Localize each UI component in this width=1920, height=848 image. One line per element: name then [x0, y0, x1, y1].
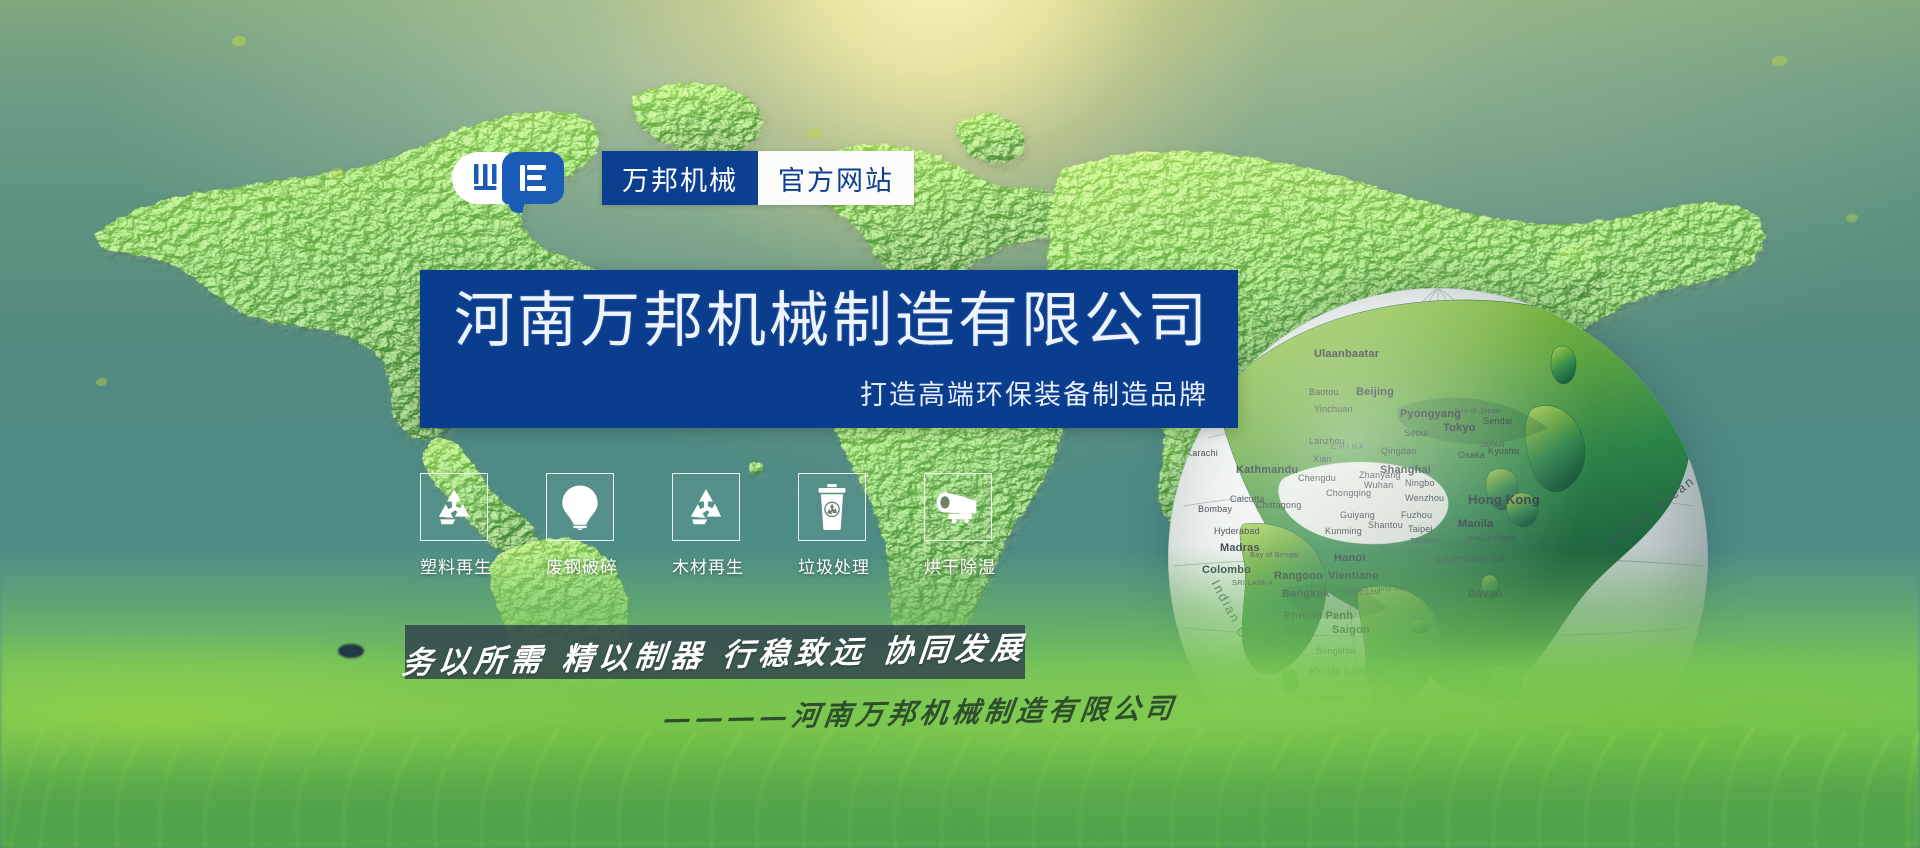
brand-bar: 万邦机械 官方网站 — [452, 150, 914, 206]
header-tabs: 万邦机械 官方网站 — [602, 151, 914, 205]
service-drying-dehumidification[interactable]: 烘干除湿 — [924, 473, 992, 578]
slogan-text: 务以所需 精以制器 行稳致远 协同发展 — [400, 622, 1029, 682]
globe-city-label: Shanghai — [1380, 464, 1431, 476]
globe-city-label: Pyongyang — [1400, 408, 1461, 420]
service-wood-recycling[interactable]: 木材再生 — [672, 473, 740, 578]
globe-city-label: Sendai — [1483, 416, 1512, 426]
globe-city-label: Hong Kong — [1468, 492, 1540, 507]
service-label: 塑料再生 — [420, 553, 488, 578]
globe-city-label: Kunming — [1325, 526, 1362, 536]
hero-banner: Hong Kong Ulaanbaatar Beijing Baotou Yin… — [0, 0, 1920, 848]
lightbulb-icon — [559, 484, 601, 530]
service-icon-box — [420, 473, 488, 541]
globe-city-label: Chengdu — [1298, 473, 1336, 483]
service-label: 废钢破碎 — [546, 553, 614, 578]
recycle-icon — [432, 485, 476, 529]
tab-brand[interactable]: 万邦机械 — [602, 151, 758, 205]
globe-city-label: Ulaanbaatar — [1314, 348, 1379, 360]
service-icon-box — [798, 473, 866, 541]
recycle-icon — [684, 485, 728, 529]
globe-city-label: Taipei — [1408, 524, 1433, 534]
globe-city-label: Fuzhou — [1401, 510, 1432, 520]
globe-city-label: Chittagong — [1256, 500, 1302, 510]
globe-city-label: Ningbo — [1405, 478, 1435, 488]
service-icon-row: 塑料再生 废钢破碎 — [420, 473, 992, 578]
globe-city-label: Yinchuan — [1314, 404, 1353, 414]
company-tagline: 打造高端环保装备制造品牌 — [860, 373, 1208, 412]
insect-speck — [338, 644, 364, 658]
globe-sea-label: Sea of Japan — [1454, 406, 1501, 415]
globe-city-label: Seoul — [1404, 428, 1428, 438]
globe-city-label: Tokyo — [1443, 422, 1476, 434]
service-label: 烘干除湿 — [924, 553, 992, 578]
trash-bin-recycle-icon — [816, 484, 848, 530]
grass-shadow — [0, 718, 1920, 848]
globe-city-label: Baotou — [1309, 387, 1339, 397]
globe-city-label: Guiyang — [1340, 510, 1375, 520]
slogan-banner: 务以所需 精以制器 行稳致远 协同发展 — [405, 625, 1025, 679]
globe-country-label: C H I N A — [1331, 442, 1364, 451]
service-icon-box — [924, 473, 992, 541]
logo-e-bubble — [502, 152, 564, 204]
globe-city-label: Hyderabad — [1214, 526, 1260, 536]
globe-city-label: Qingdao — [1381, 446, 1416, 456]
globe-country-label: PHILIPPINES — [1468, 534, 1516, 543]
service-waste-treatment[interactable]: 垃圾处理 — [798, 473, 866, 578]
hero-title-panel: 河南万邦机械制造有限公司 打造高端环保装备制造品牌 — [420, 270, 1238, 428]
globe-city-label: Wuhan — [1364, 480, 1393, 490]
globe-city-label: Karachi — [1186, 448, 1218, 458]
service-label: 垃圾处理 — [798, 553, 866, 578]
wanbang-logo[interactable] — [452, 150, 564, 206]
globe-city-label: Xian — [1313, 454, 1332, 464]
globe-city-label: Beijing — [1356, 386, 1394, 398]
globe-city-label: Manila — [1458, 518, 1493, 530]
service-label: 木材再生 — [672, 553, 740, 578]
dryer-machine-icon — [935, 490, 981, 524]
globe-city-label: Osaka — [1458, 450, 1485, 460]
globe-country-label: JAPAN — [1480, 440, 1505, 449]
globe-city-label: Shantou — [1368, 520, 1403, 530]
globe-city-label: Wenzhou — [1405, 493, 1444, 503]
company-name: 河南万邦机械制造有限公司 — [454, 286, 1210, 357]
tab-official-site[interactable]: 官方网站 — [758, 151, 914, 205]
globe-city-label: Kathmandu — [1236, 464, 1298, 476]
globe-country-label: TAIWAN — [1410, 536, 1440, 545]
globe-city-label: Bombay — [1198, 504, 1232, 514]
service-scrap-steel-shredding[interactable]: 废钢破碎 — [546, 473, 614, 578]
service-icon-box — [672, 473, 740, 541]
service-icon-box — [546, 473, 614, 541]
service-plastic-recycling[interactable]: 塑料再生 — [420, 473, 488, 578]
